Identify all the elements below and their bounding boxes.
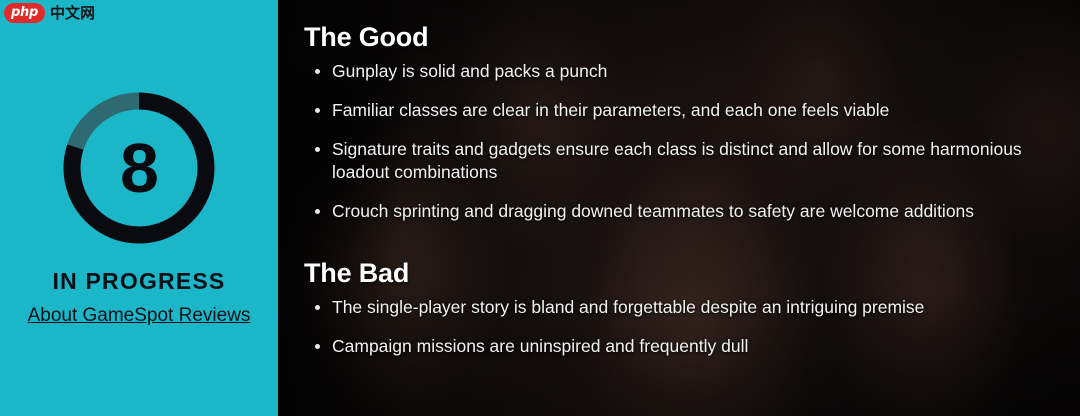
review-sections: The Good Gunplay is solid and packs a pu…	[278, 0, 1080, 416]
about-reviews-link-wrap: About GameSpot Reviews	[0, 305, 278, 327]
bullet-dot-icon	[315, 69, 320, 74]
list-item: Gunplay is solid and packs a punch	[304, 60, 1064, 83]
php-logo-badge: php	[4, 3, 45, 23]
section-heading-the-bad: The Bad	[304, 258, 409, 289]
site-name-chinese: 中文网	[50, 6, 95, 21]
list-item-text: Crouch sprinting and dragging downed tea…	[332, 201, 974, 221]
bullet-list-the-bad: The single-player story is bland and for…	[304, 296, 1064, 358]
score-status-label: IN PROGRESS	[0, 268, 278, 295]
score-ring: 8	[58, 87, 220, 249]
list-item: Campaign missions are uninspired and fre…	[304, 335, 1064, 358]
list-item-text: Gunplay is solid and packs a punch	[332, 61, 607, 81]
list-item: Signature traits and gadgets ensure each…	[304, 138, 1064, 184]
list-item-text: Signature traits and gadgets ensure each…	[332, 139, 1022, 182]
review-score-card: php 中文网 8 IN PROGRESS About GameSpot Rev…	[0, 0, 1080, 416]
list-item: Crouch sprinting and dragging downed tea…	[304, 200, 1064, 223]
site-watermark: php 中文网	[4, 2, 95, 24]
score-panel: php 中文网 8 IN PROGRESS About GameSpot Rev…	[0, 0, 278, 416]
bullet-dot-icon	[315, 344, 320, 349]
list-item-text: The single-player story is bland and for…	[332, 297, 924, 317]
about-gamespot-reviews-link[interactable]: About GameSpot Reviews	[28, 305, 251, 326]
review-content-panel: The Good Gunplay is solid and packs a pu…	[278, 0, 1080, 416]
list-item: The single-player story is bland and for…	[304, 296, 1064, 319]
bullet-dot-icon	[315, 147, 320, 152]
bullet-dot-icon	[315, 305, 320, 310]
bullet-list-the-good: Gunplay is solid and packs a punch Famil…	[304, 60, 1064, 223]
list-item-text: Familiar classes are clear in their para…	[332, 100, 889, 120]
bullet-dot-icon	[315, 108, 320, 113]
list-item: Familiar classes are clear in their para…	[304, 99, 1064, 122]
list-item-text: Campaign missions are uninspired and fre…	[332, 336, 748, 356]
score-value: 8	[58, 87, 220, 249]
section-heading-the-good: The Good	[304, 22, 428, 53]
bullet-dot-icon	[315, 209, 320, 214]
